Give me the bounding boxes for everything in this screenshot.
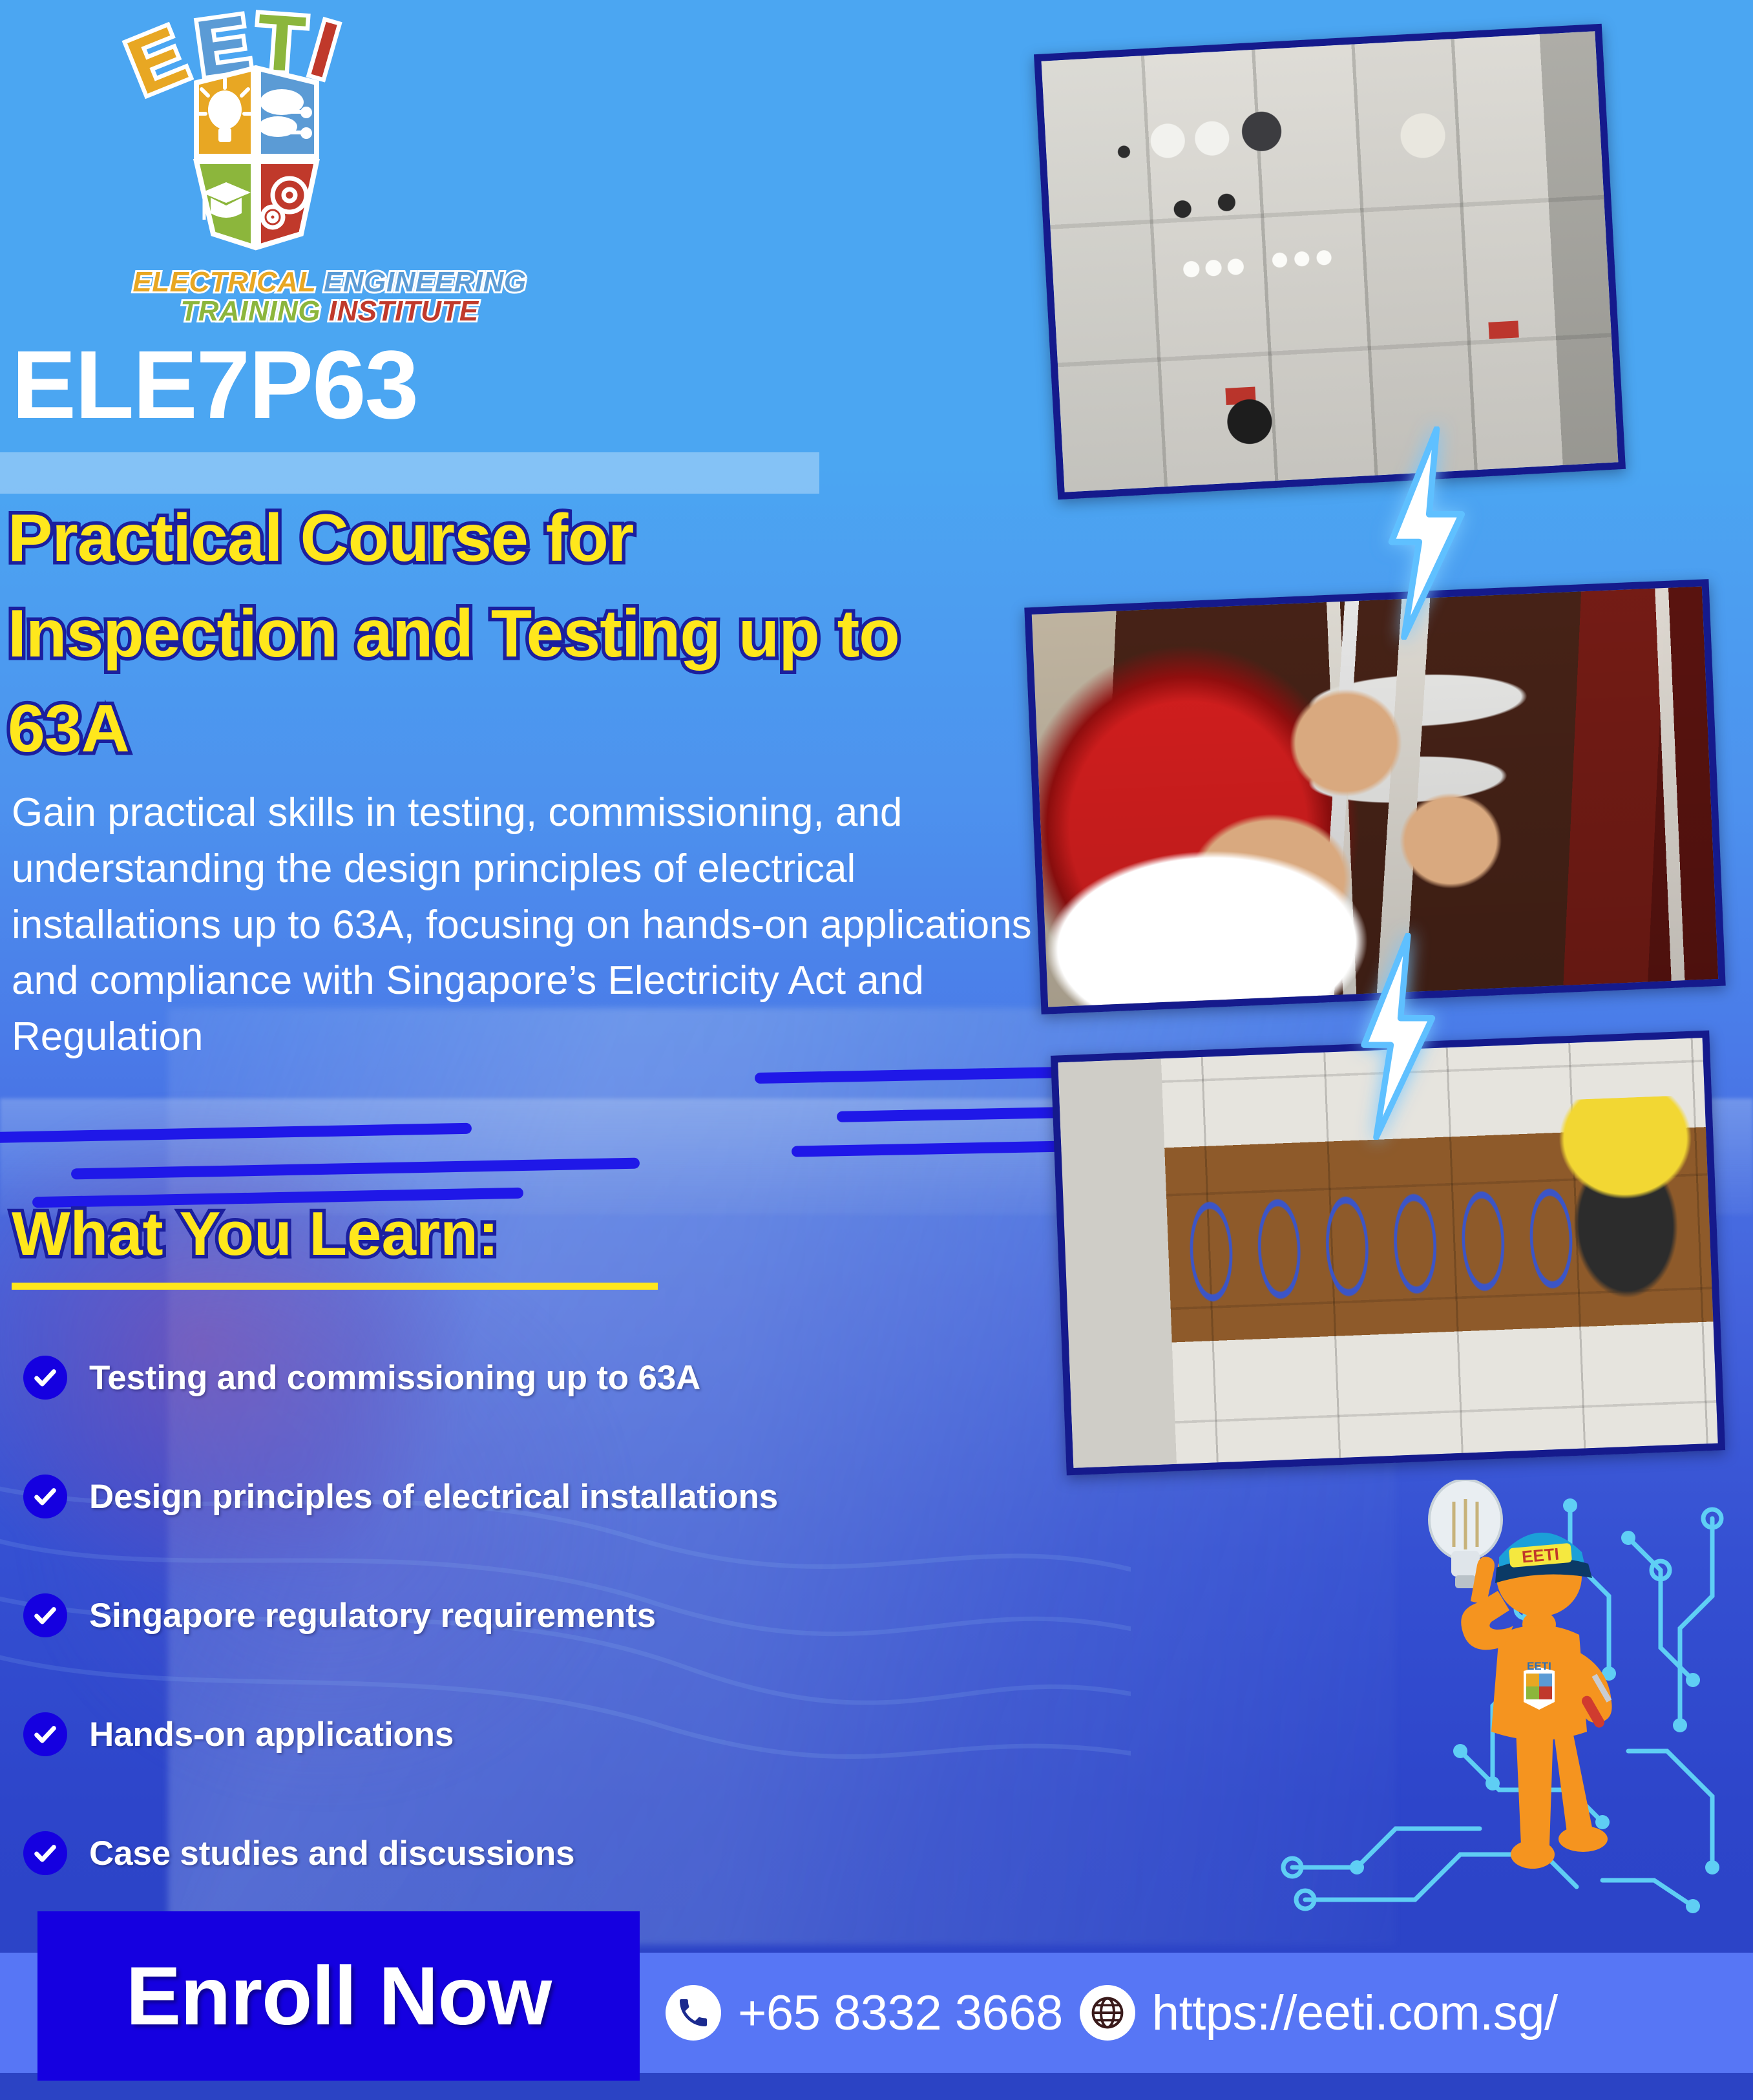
lightning-bolt-icon	[1372, 426, 1476, 640]
wordmark-electrical: ELECTRICAL	[132, 266, 315, 298]
photo-switchgear-content	[1042, 31, 1619, 492]
wordmark-institute: INSTITUTE	[329, 295, 479, 327]
wordmark-training: TRAINING	[180, 295, 320, 327]
svg-text:EETI: EETI	[1527, 1660, 1551, 1672]
poster-root: E E T I	[0, 0, 1753, 2100]
list-item: Hands-on applications	[19, 1675, 1027, 1794]
list-item: Testing and commissioning up to 63A	[19, 1318, 1027, 1437]
list-item-label: Case studies and discussions	[89, 1834, 574, 1873]
section-heading-underline	[12, 1283, 658, 1290]
section-heading-what-you-learn: What You Learn:	[12, 1199, 499, 1270]
enroll-now-label: Enroll Now	[126, 1949, 551, 2044]
list-item: Case studies and discussions	[19, 1794, 1027, 1913]
brand-wordmark: ELECTRICAL ENGINEERING TRAINING INSTITUT…	[110, 268, 549, 326]
brand-logo: E E T I	[103, 6, 407, 342]
check-circle-icon	[23, 1593, 67, 1637]
check-circle-icon	[23, 1356, 67, 1400]
course-code: ELE7P63	[12, 336, 417, 433]
svg-text:E: E	[116, 10, 198, 111]
worker-hardhat	[1550, 1095, 1701, 1328]
list-item: Singapore regulatory requirements	[19, 1556, 1027, 1675]
mascot-chest-badge: EETI	[1524, 1660, 1555, 1710]
check-circle-icon	[23, 1712, 67, 1756]
list-item-label: Hands-on applications	[89, 1715, 454, 1754]
list-item-label: Testing and commissioning up to 63A	[89, 1358, 700, 1398]
wordmark-engineering: ENGINEERING	[324, 266, 527, 298]
course-description: Gain practical skills in testing, commis…	[12, 785, 1071, 1066]
contact-info: +65 8332 3668 https://eeti.com.sg/	[666, 1971, 1558, 2055]
globe-icon	[1080, 1985, 1135, 2041]
eeti-mascot: EETI EETI	[1389, 1480, 1667, 1906]
website-url[interactable]: https://eeti.com.sg/	[1152, 1985, 1558, 2041]
course-code-band	[0, 452, 819, 494]
mascot-cap-text: EETI	[1521, 1544, 1560, 1567]
check-circle-icon	[23, 1831, 67, 1875]
phone-number[interactable]: +65 8332 3668	[738, 1985, 1063, 2041]
page-title: Practical Course for Inspection and Test…	[8, 491, 932, 777]
lightning-bolt-icon	[1344, 933, 1447, 1140]
list-item-label: Singapore regulatory requirements	[89, 1596, 656, 1635]
learn-list: Testing and commissioning up to 63A Desi…	[19, 1318, 1027, 1913]
phone-icon	[666, 1985, 721, 2041]
check-circle-icon	[23, 1475, 67, 1518]
list-item: Design principles of electrical installa…	[19, 1437, 1027, 1556]
enroll-now-button[interactable]: Enroll Now	[37, 1911, 640, 2081]
photo-switchgear-panels	[1034, 24, 1626, 500]
list-item-label: Design principles of electrical installa…	[89, 1477, 778, 1517]
